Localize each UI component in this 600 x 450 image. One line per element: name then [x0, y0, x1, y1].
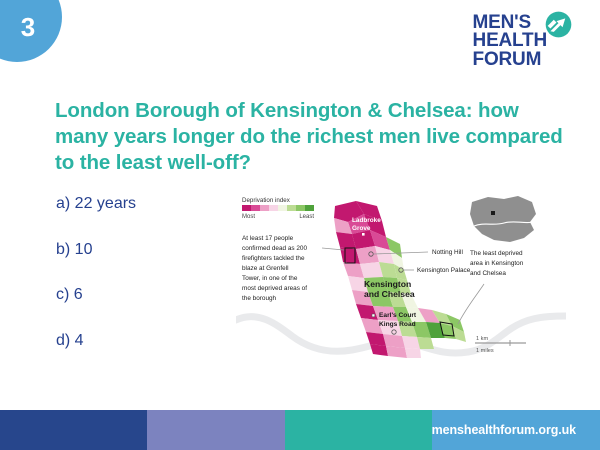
label-kings-road: Kings Road	[379, 321, 416, 328]
label-earls-court: Earl's Court	[379, 312, 417, 319]
inset-borough-marker	[491, 211, 495, 215]
deprivation-map-figure: Deprivation index Most Least	[236, 192, 566, 382]
footer-block-blue: menshealthforum.org.uk	[432, 410, 600, 450]
legend-max-label: Least	[299, 214, 314, 220]
label-borough-kensington-and-chelsea: Kensingtonand Chelsea	[364, 279, 415, 299]
legend-swatch-4	[278, 205, 287, 211]
answer-option-d[interactable]: d) 4	[56, 332, 236, 350]
legend-swatch-3	[269, 205, 278, 211]
slide-number-badge: 3	[0, 0, 62, 62]
footer-block-teal	[285, 410, 432, 450]
answer-option-a[interactable]: a) 22 years	[56, 195, 236, 213]
answer-option-c[interactable]: c) 6	[56, 286, 236, 304]
grenfell-annotation: At least 17 people confirmed dead as 200…	[242, 235, 344, 302]
legend-swatch-0	[242, 205, 251, 211]
footer-block-purple	[147, 410, 285, 450]
scale-km-label: 1 km	[476, 336, 488, 342]
legend-swatch-5	[287, 205, 296, 211]
legend-swatch-7	[305, 205, 314, 211]
answer-options-list: a) 22 years b) 10 c) 6 d) 4	[56, 195, 236, 377]
scale-miles-label: 1 miles	[476, 348, 494, 354]
legend-min-label: Most	[242, 214, 255, 220]
legend-swatch-1	[251, 205, 260, 211]
legend-swatch-6	[296, 205, 305, 211]
answer-option-b[interactable]: b) 10	[56, 241, 236, 259]
page-title: London Borough of Kensington & Chelsea: …	[55, 98, 565, 177]
inset-leader-line	[458, 284, 484, 324]
label-kensington-palace: Kensington Palace	[417, 267, 471, 274]
legend: Deprivation index Most Least	[242, 197, 314, 220]
inset-caption: The least deprived area in Kensington an…	[470, 250, 525, 277]
legend-swatch-2	[260, 205, 269, 211]
svg-text:At least 17 people con: At least 17 people confirmed dead as 200…	[242, 235, 309, 302]
label-dot-ladbroke	[362, 233, 365, 236]
label-notting-hill: Notting Hill	[432, 249, 463, 256]
brand-logo-line-3: FORUM	[473, 51, 547, 69]
brand-logo: MEN'S HEALTH FORUM	[473, 14, 572, 69]
legend-title: Deprivation index	[242, 197, 291, 204]
brand-logo-text: MEN'S HEALTH FORUM	[473, 14, 547, 69]
deprivation-map-svg: Deprivation index Most Least	[236, 192, 566, 382]
footer-website-url[interactable]: menshealthforum.org.uk	[432, 423, 576, 437]
slide-number: 3	[0, 0, 35, 40]
footer-block-navy	[0, 410, 147, 450]
inset-greater-london-shape	[470, 196, 536, 242]
london-inset-map: The least deprived area in Kensington an…	[458, 196, 536, 324]
footer-bar: menshealthforum.org.uk	[0, 410, 600, 450]
arrow-in-circle-icon	[545, 11, 572, 38]
label-dot-earls-court	[372, 314, 375, 317]
